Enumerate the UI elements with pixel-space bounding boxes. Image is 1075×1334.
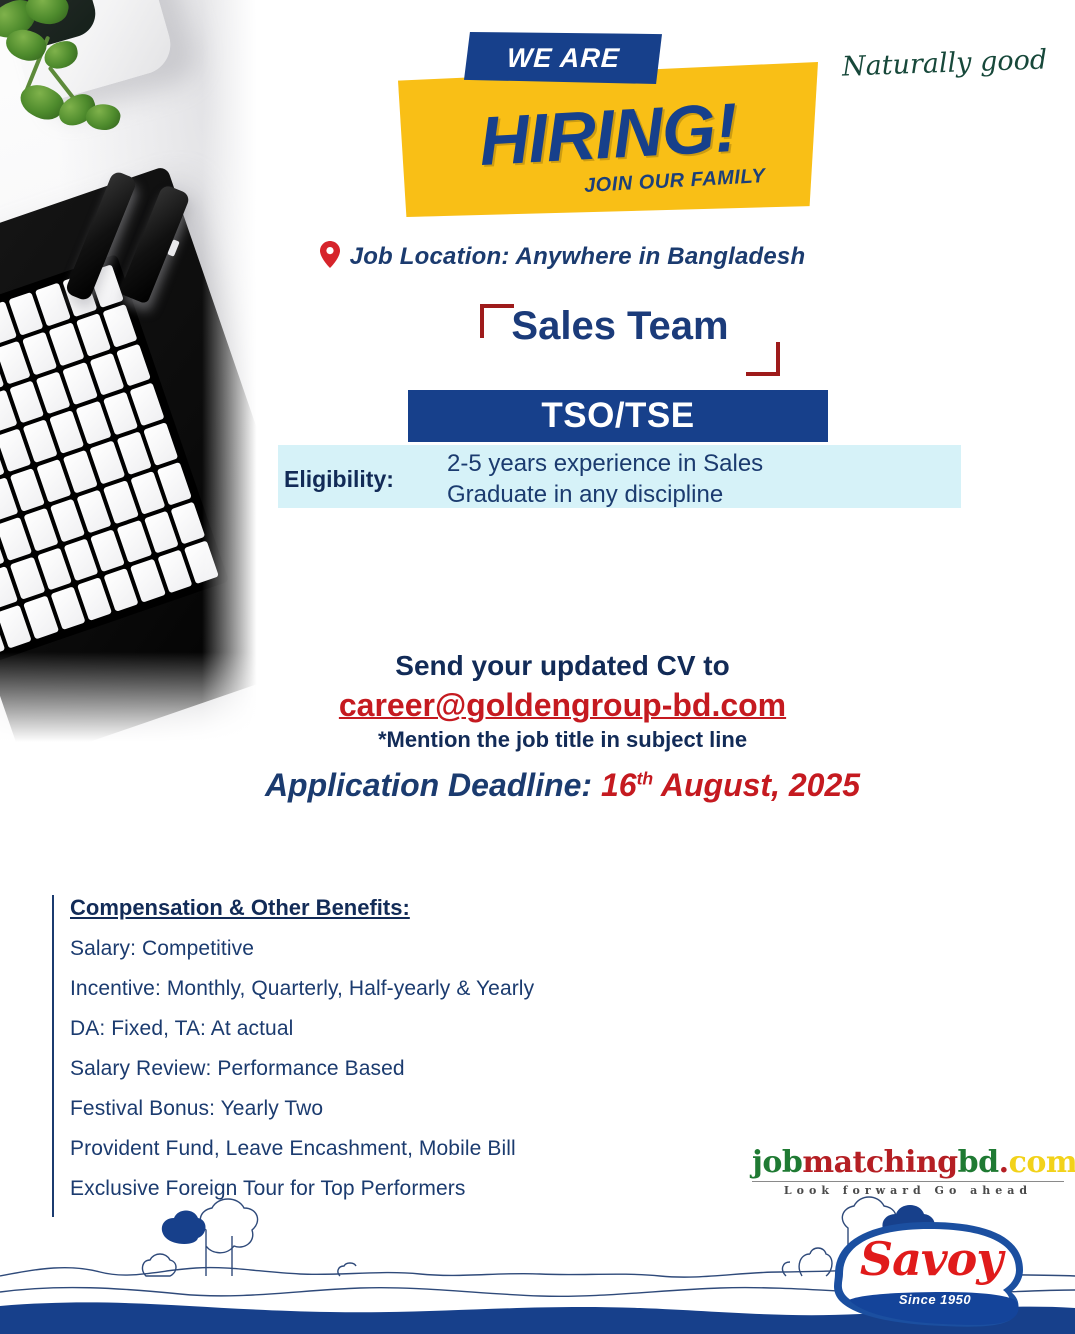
eligibility-line-1: 2-5 years experience in Sales — [447, 449, 763, 480]
role-title: TSO/TSE — [541, 396, 694, 436]
benefits-title: Compensation & Other Benefits: — [70, 895, 690, 921]
savoy-logo: Savoy Since 1950 — [823, 1218, 1069, 1330]
banner-we-are-tab: WE ARE — [464, 32, 662, 84]
watermark-logo-text: jobmatchingbd.com — [752, 1148, 1064, 1178]
eligibility-content: 2-5 years experience in Sales Graduate i… — [447, 449, 763, 510]
benefit-item: Provident Fund, Leave Encashment, Mobile… — [70, 1137, 690, 1161]
benefit-item: Salary Review: Performance Based — [70, 1057, 690, 1081]
job-location-text: Job Location: Anywhere in Bangladesh — [350, 243, 806, 271]
benefit-item: DA: Fixed, TA: At actual — [70, 1017, 690, 1041]
savoy-since-text: Since 1950 — [823, 1292, 1047, 1307]
application-deadline: Application Deadline: 16th August, 2025 — [0, 767, 1075, 804]
hiring-banner: HIRING! JOIN OUR FAMILY WE ARE — [398, 62, 818, 217]
watermark-part-com: com — [1009, 1145, 1075, 1180]
watermark-part-job: job — [752, 1145, 802, 1180]
deadline-suffix: th — [637, 768, 654, 788]
deadline-day: 16 — [601, 767, 637, 803]
watermark-tagline: Look forward Go ahead — [752, 1181, 1064, 1197]
eligibility-line-2: Graduate in any discipline — [447, 480, 763, 511]
team-title: Sales Team — [470, 304, 770, 349]
bracket-bottom-right-icon — [746, 342, 780, 376]
role-bar: TSO/TSE — [408, 390, 828, 442]
watermark-part-bd: bd — [958, 1145, 999, 1180]
benefits-section: Compensation & Other Benefits: Salary: C… — [52, 895, 690, 1217]
deadline-date: 16th August, 2025 — [601, 767, 860, 803]
watermark-part-dot: . — [999, 1145, 1009, 1180]
deadline-label: Application Deadline: — [265, 767, 592, 803]
job-advertisement-poster: HIRING! JOIN OUR FAMILY WE ARE Naturally… — [0, 0, 1075, 1334]
subject-line-note: *Mention the job title in subject line — [0, 727, 1075, 753]
map-pin-icon — [320, 241, 340, 273]
savoy-brand-name: Savoy — [823, 1232, 1039, 1286]
watermark-part-matching: matching — [802, 1145, 957, 1180]
jobmatchingbd-watermark: jobmatchingbd.com Look forward Go ahead — [752, 1148, 1064, 1197]
application-email[interactable]: career@goldengroup-bd.com — [0, 687, 1075, 724]
send-cv-label: Send your updated CV to — [0, 650, 1075, 682]
banner-we-are-text: WE ARE — [506, 43, 621, 74]
benefit-item: Incentive: Monthly, Quarterly, Half-year… — [70, 977, 690, 1001]
benefit-item: Salary: Competitive — [70, 937, 690, 961]
eligibility-label: Eligibility: — [284, 466, 394, 493]
benefit-item: Festival Bonus: Yearly Two — [70, 1097, 690, 1121]
deadline-rest: August, 2025 — [653, 767, 860, 803]
brand-tagline: Naturally good — [842, 44, 1048, 82]
team-heading: Sales Team — [470, 300, 770, 368]
job-location: Job Location: Anywhere in Bangladesh — [0, 241, 1075, 273]
